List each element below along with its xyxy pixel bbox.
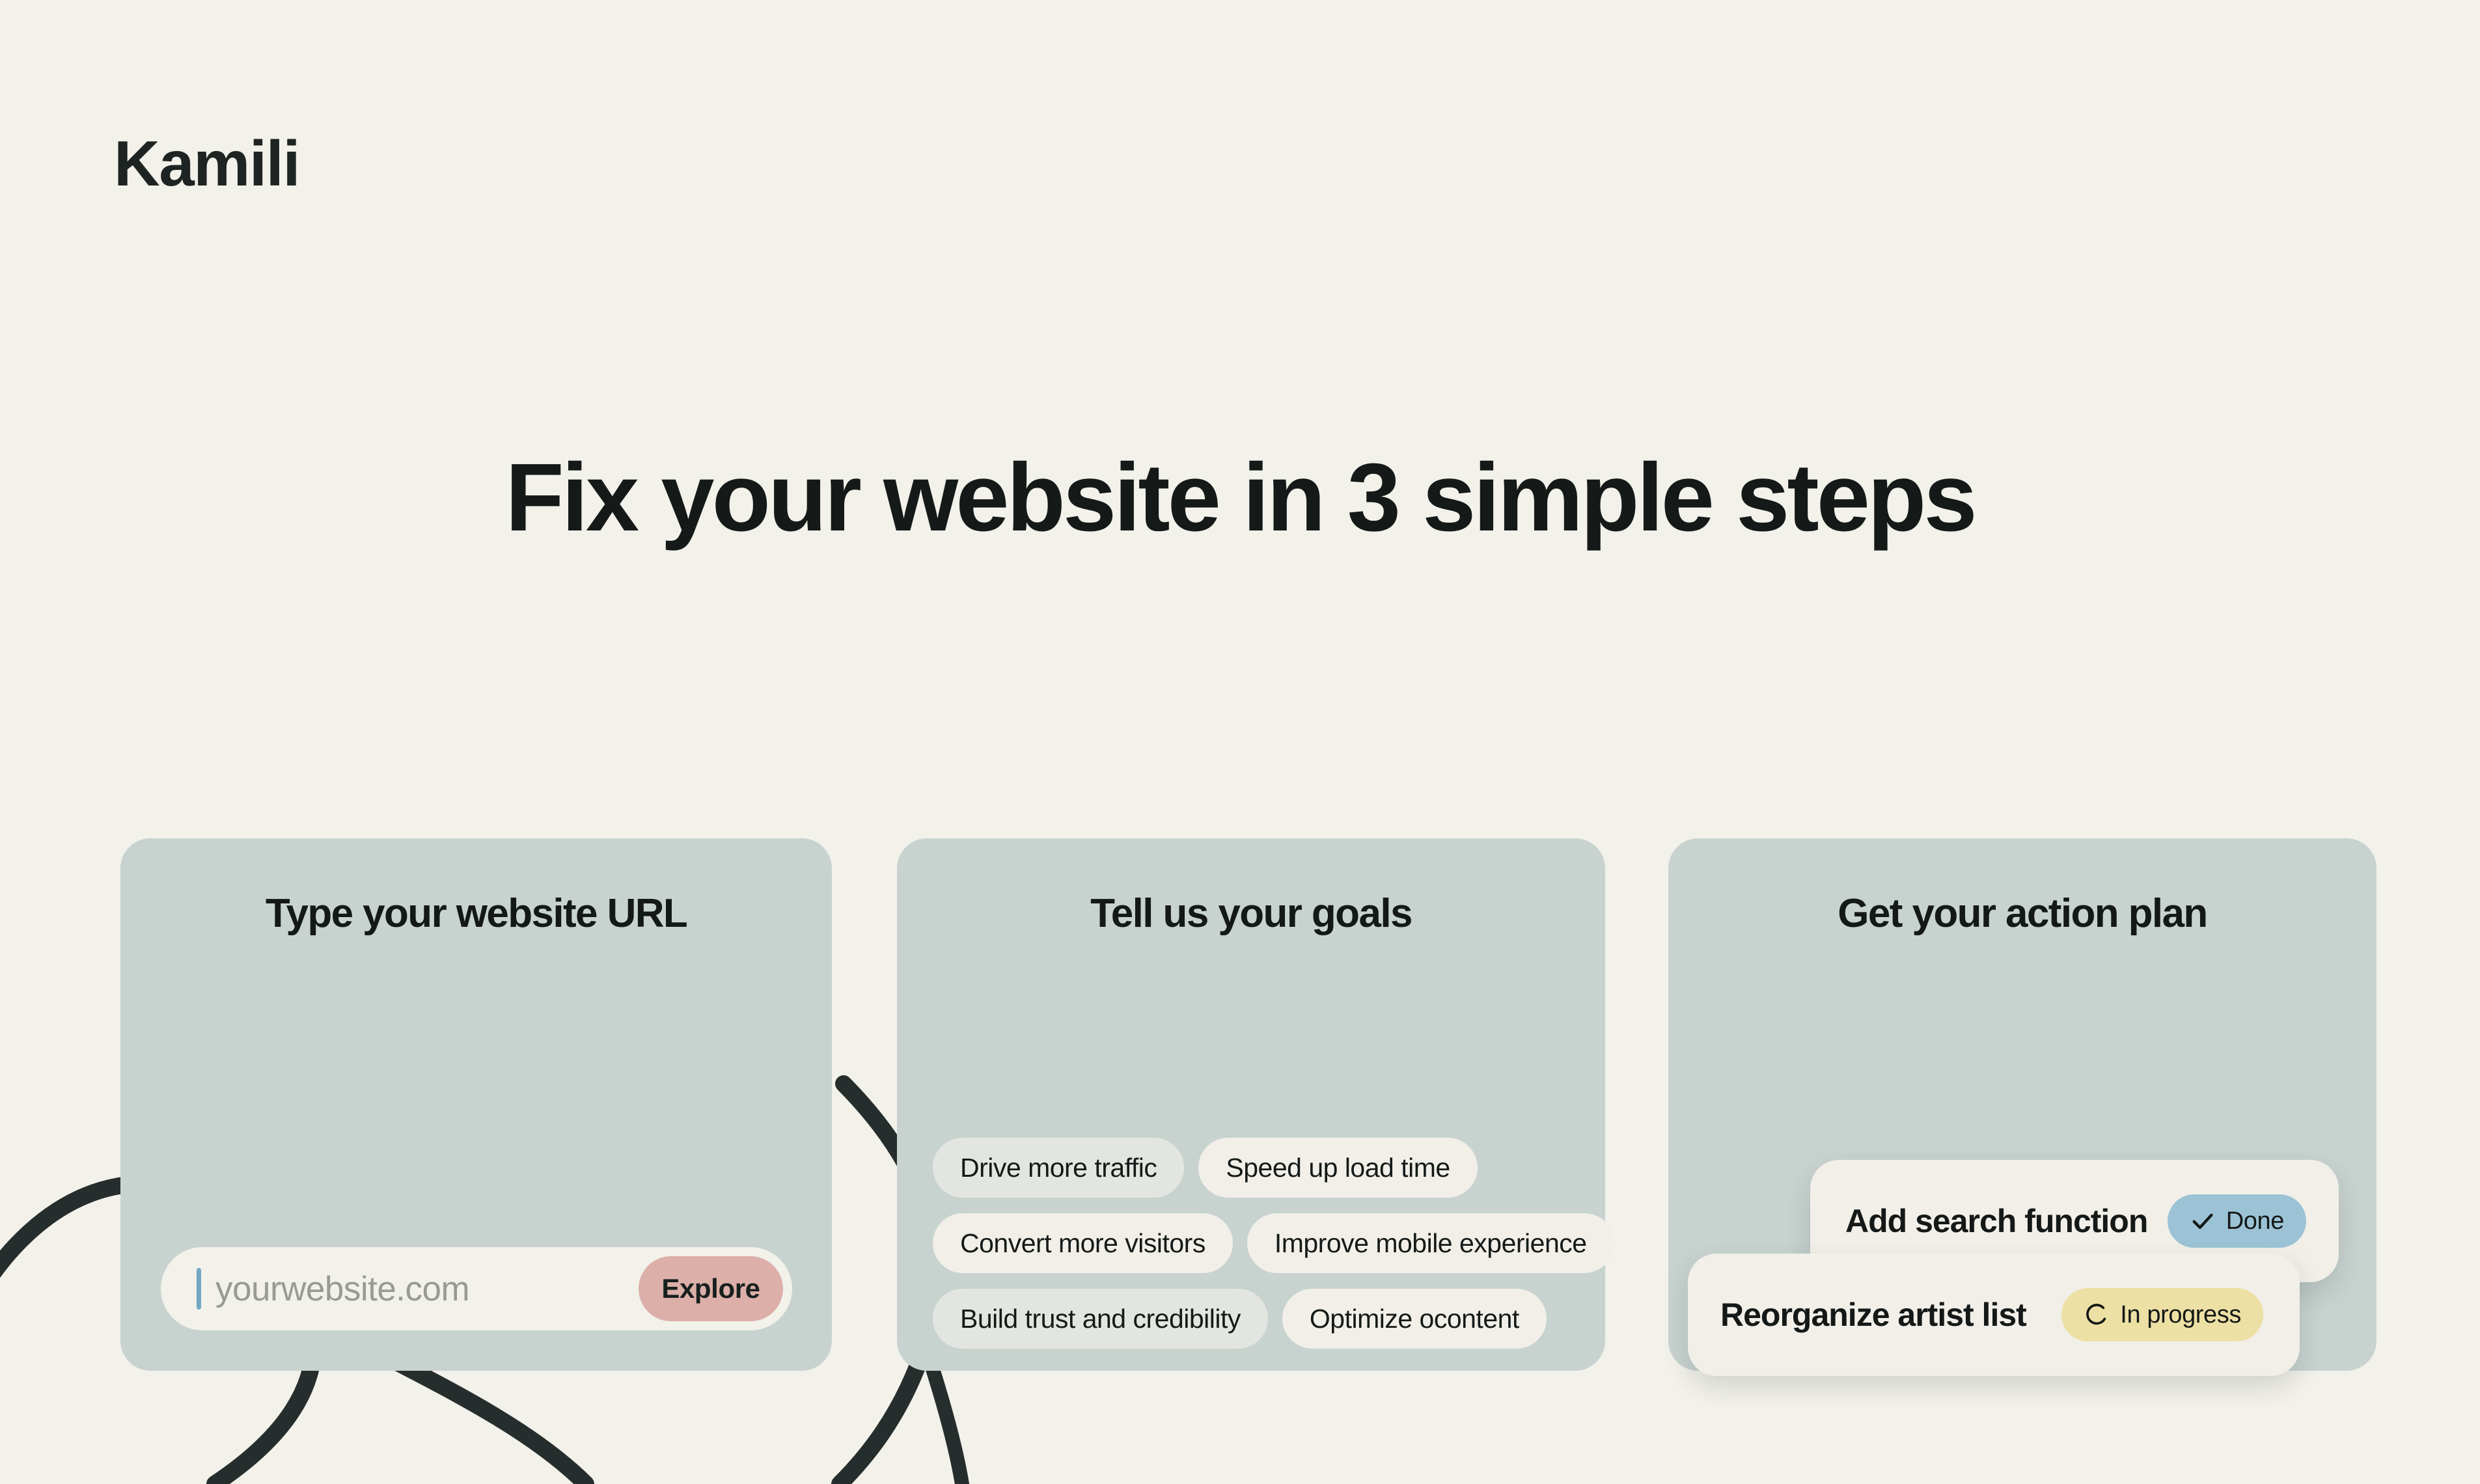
landing-page: Kamili Fix your website in 3 simple step… <box>0 0 2480 1484</box>
url-input-placeholder: yourwebsite.com <box>215 1269 639 1309</box>
check-icon <box>2190 1208 2216 1234</box>
status-badge-in-progress[interactable]: In progress <box>2061 1288 2263 1341</box>
task-row[interactable]: Reorganize artist list In progress <box>1688 1254 2300 1376</box>
task-list: Add search function Done Reorganize arti… <box>1668 838 2377 1371</box>
step-card-url: Type your website URL yourwebsite.com Ex… <box>120 838 832 1371</box>
goal-chip-row: Build trust and credibility Optimize oco… <box>933 1289 1569 1349</box>
task-label: Reorganize artist list <box>1720 1296 2061 1334</box>
goal-chip[interactable]: Build trust and credibility <box>933 1289 1268 1349</box>
status-badge-label: In progress <box>2120 1301 2241 1329</box>
status-badge-done[interactable]: Done <box>2168 1194 2306 1248</box>
goal-chip-group: Drive more traffic Speed up load time Co… <box>933 1138 1569 1364</box>
step-card-goals: Tell us your goals Drive more traffic Sp… <box>897 838 1605 1371</box>
step-card-action-plan: Get your action plan Add search function… <box>1668 838 2377 1371</box>
goal-chip[interactable]: Improve mobile experience <box>1247 1213 1614 1273</box>
brand-logo[interactable]: Kamili <box>114 127 299 200</box>
goal-chip-row: Convert more visitors Improve mobile exp… <box>933 1213 1569 1273</box>
explore-button[interactable]: Explore <box>639 1256 783 1321</box>
goal-chip-row: Drive more traffic Speed up load time <box>933 1138 1569 1198</box>
page-title: Fix your website in 3 simple steps <box>0 443 2480 553</box>
step-card-title: Type your website URL <box>120 890 832 937</box>
task-label: Add search function <box>1845 1202 2168 1240</box>
goal-chip[interactable]: Convert more visitors <box>933 1213 1233 1273</box>
goal-chip[interactable]: Drive more traffic <box>933 1138 1184 1198</box>
url-input-field[interactable]: yourwebsite.com Explore <box>161 1247 792 1330</box>
steps-row: Type your website URL yourwebsite.com Ex… <box>0 838 2480 1379</box>
status-badge-label: Done <box>2226 1207 2284 1235</box>
spinner-icon <box>2084 1302 2110 1328</box>
text-caret-icon <box>197 1268 201 1310</box>
step-card-title: Tell us your goals <box>897 890 1605 937</box>
goal-chip[interactable]: Speed up load time <box>1198 1138 1477 1198</box>
goal-chip[interactable]: Optimize ocontent <box>1282 1289 1547 1349</box>
